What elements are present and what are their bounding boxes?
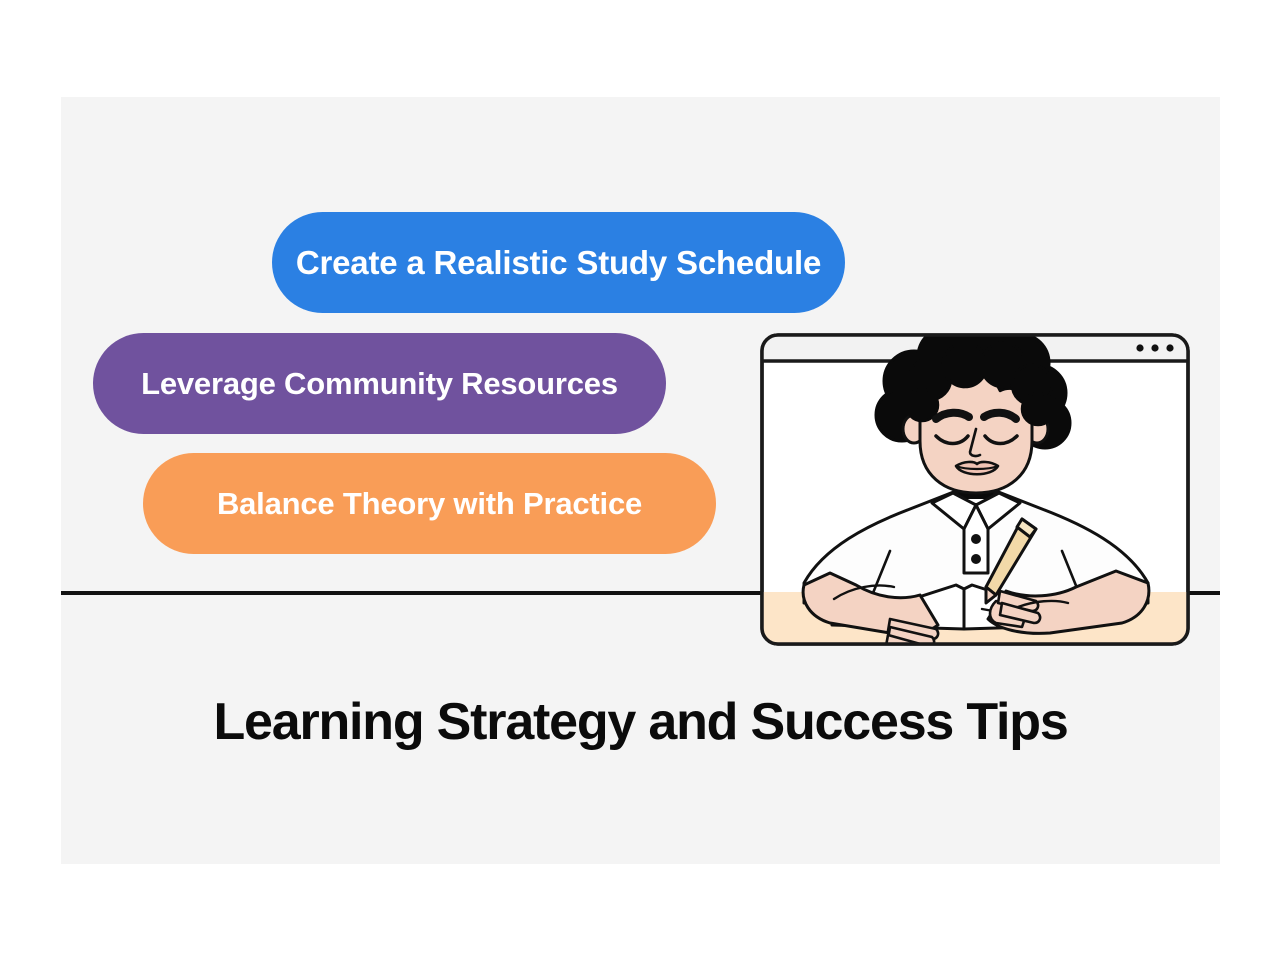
student-illustration-svg [760,333,1190,646]
pill-balance-theory-with-practice[interactable]: Balance Theory with Practice [143,453,716,554]
pill-label: Create a Realistic Study Schedule [296,244,821,282]
pill-label: Balance Theory with Practice [217,486,642,522]
pill-create-a-realistic-study-schedule[interactable]: Create a Realistic Study Schedule [272,212,845,313]
page-title: Learning Strategy and Success Tips [61,692,1220,752]
pill-leverage-community-resources[interactable]: Leverage Community Resources [93,333,666,434]
pill-label: Leverage Community Resources [141,366,618,402]
slide-canvas: Create a Realistic Study Schedule Levera… [0,0,1280,960]
student-illustration-card [760,333,1190,646]
window-dots-icon [1136,344,1173,351]
mouth [956,462,998,474]
